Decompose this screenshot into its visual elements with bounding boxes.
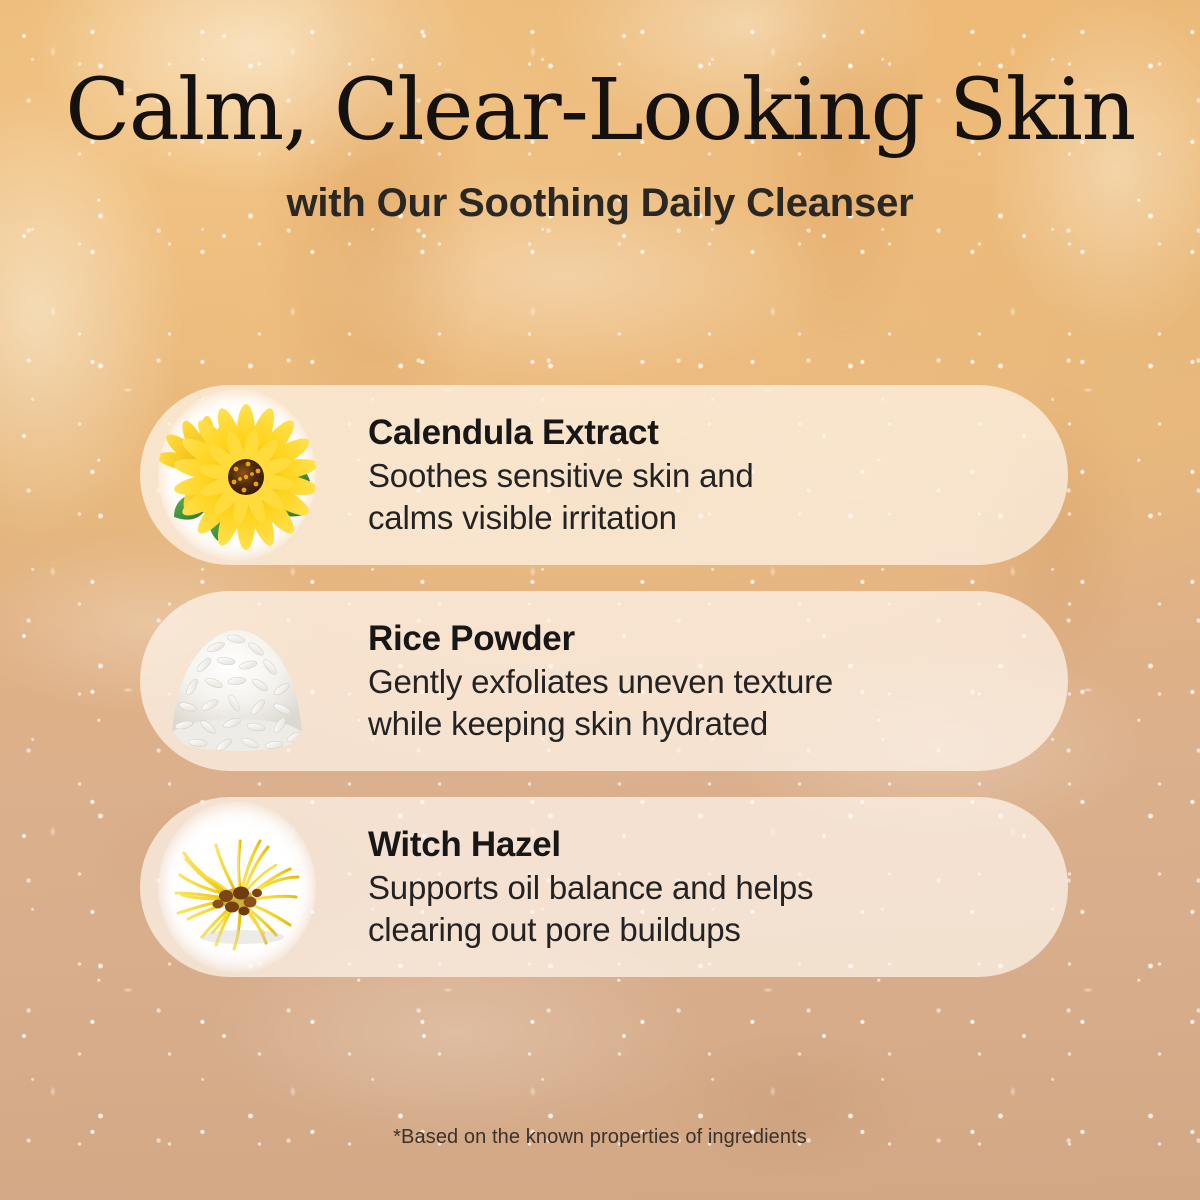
page-title: Calm, Clear-Looking Skin (0, 68, 1200, 153)
ingredient-name: Rice Powder (368, 618, 1038, 659)
ingredient-description: Gently exfoliates uneven texture while k… (368, 661, 1038, 744)
ingredient-card: Witch Hazel Supports oil balance and hel… (140, 797, 1068, 977)
witch-hazel-flower-icon (158, 801, 316, 973)
ingredient-description: Supports oil balance and helps clearing … (368, 867, 1038, 950)
page-subtitle: with Our Soothing Daily Cleanser (0, 183, 1200, 223)
ingredient-name: Calendula Extract (368, 412, 1038, 453)
ingredient-card-list: Calendula Extract Soothes sensitive skin… (140, 385, 1068, 977)
ingredient-description: Soothes sensitive skin and calms visible… (368, 455, 1038, 538)
disclaimer-footnote: *Based on the known properties of ingred… (0, 1126, 1200, 1149)
ingredient-text-block: Calendula Extract Soothes sensitive skin… (368, 412, 1068, 538)
ingredient-text-block: Witch Hazel Supports oil balance and hel… (368, 824, 1068, 950)
infographic-canvas: Calm, Clear-Looking Skin with Our Soothi… (0, 0, 1200, 1200)
calendula-flower-icon (158, 389, 316, 561)
ingredient-card: Rice Powder Gently exfoliates uneven tex… (140, 591, 1068, 771)
ingredient-name: Witch Hazel (368, 824, 1038, 865)
ingredient-text-block: Rice Powder Gently exfoliates uneven tex… (368, 618, 1068, 744)
rice-powder-icon (158, 595, 316, 767)
ingredient-card: Calendula Extract Soothes sensitive skin… (140, 385, 1068, 565)
